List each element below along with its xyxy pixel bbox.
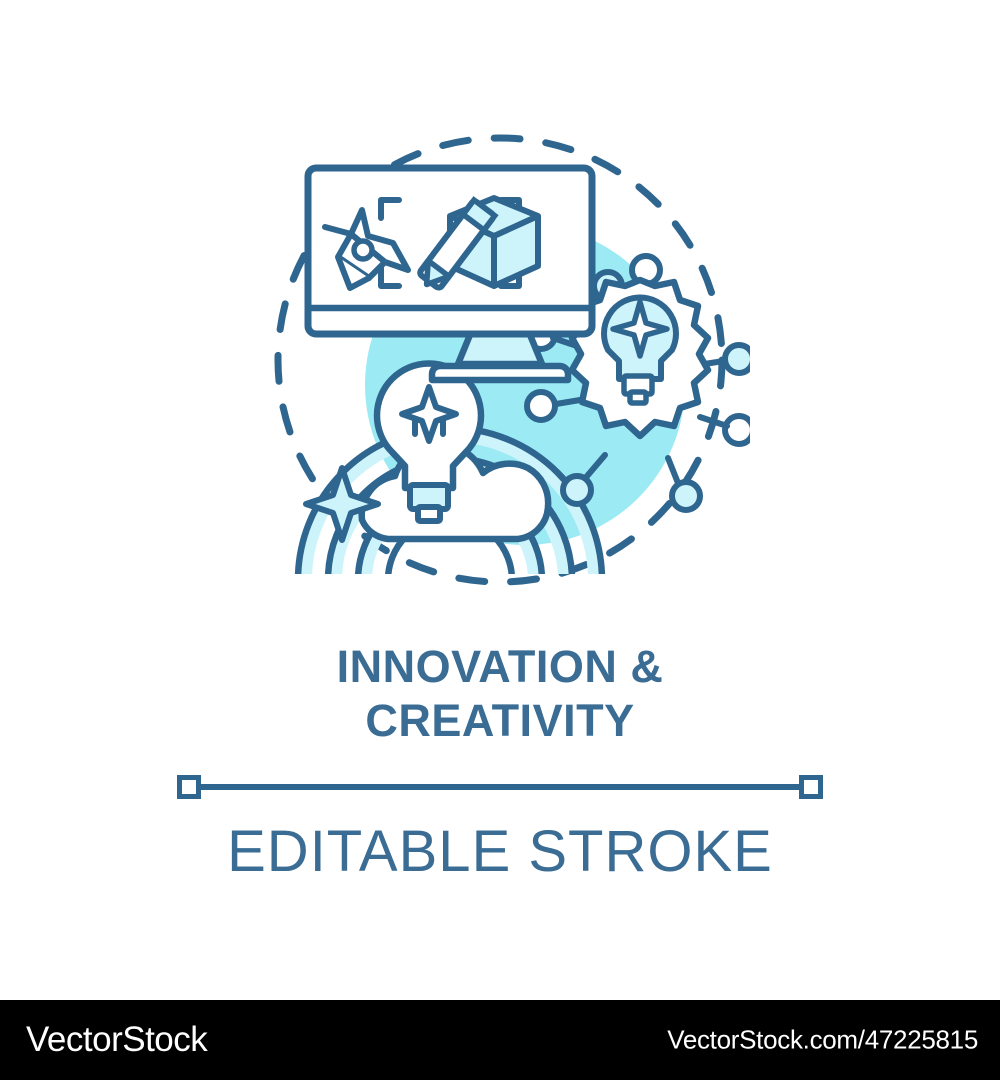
concept-title-line-2: CREATIVITY: [0, 694, 1000, 748]
screenshot-canvas: INNOVATION & CREATIVITY EDITABLE STROKE …: [0, 0, 1000, 1080]
monitor-stand-base: [432, 366, 568, 380]
watermark-footer: VectorStock VectorStock.com/47225815: [0, 1000, 1000, 1080]
gear-bulb-screw: [630, 392, 646, 403]
vectorstock-url: VectorStock.com/47225815: [667, 1025, 978, 1056]
concept-title: INNOVATION & CREATIVITY: [0, 640, 1000, 748]
stroke-ruler: [177, 770, 823, 804]
illustration-svg: [250, 110, 750, 610]
concept-illustration: [250, 110, 750, 610]
vectorstock-logo: VectorStock: [26, 1020, 207, 1060]
concept-title-line-1: INNOVATION &: [0, 640, 1000, 694]
editable-stroke-block: EDITABLE STROKE: [0, 770, 1000, 885]
stroke-handle-right[interactable]: [799, 775, 823, 799]
bulb-screw: [418, 507, 440, 521]
editable-stroke-caption: EDITABLE STROKE: [0, 818, 1000, 885]
stroke-path-line: [195, 784, 805, 790]
stroke-handle-left[interactable]: [177, 775, 201, 799]
